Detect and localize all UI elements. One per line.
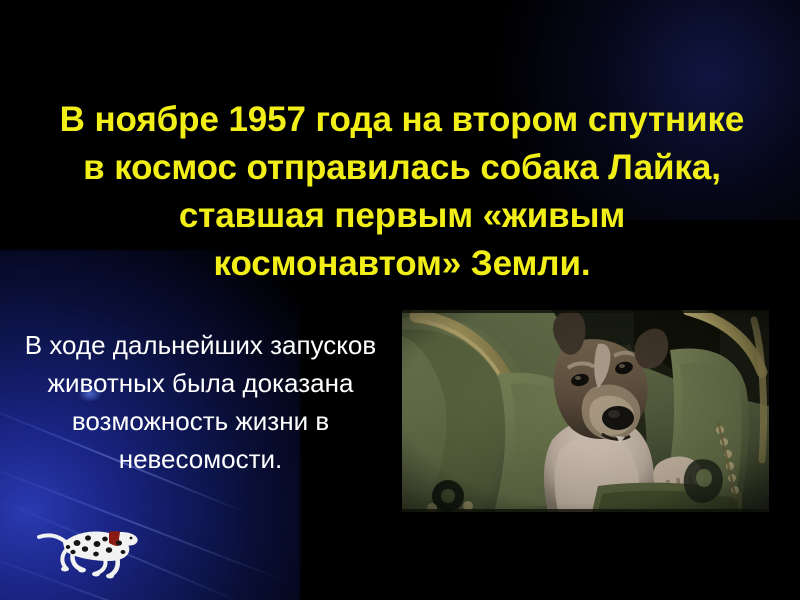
running-dalmatian-icon bbox=[33, 519, 141, 579]
slide-title: В ноябре 1957 года на втором спутнике в … bbox=[52, 96, 752, 288]
slide-canvas: В ноябре 1957 года на втором спутнике в … bbox=[0, 0, 800, 600]
slide-body-text: В ходе дальнейших запусков животных была… bbox=[8, 326, 393, 478]
laika-photo bbox=[402, 310, 769, 512]
